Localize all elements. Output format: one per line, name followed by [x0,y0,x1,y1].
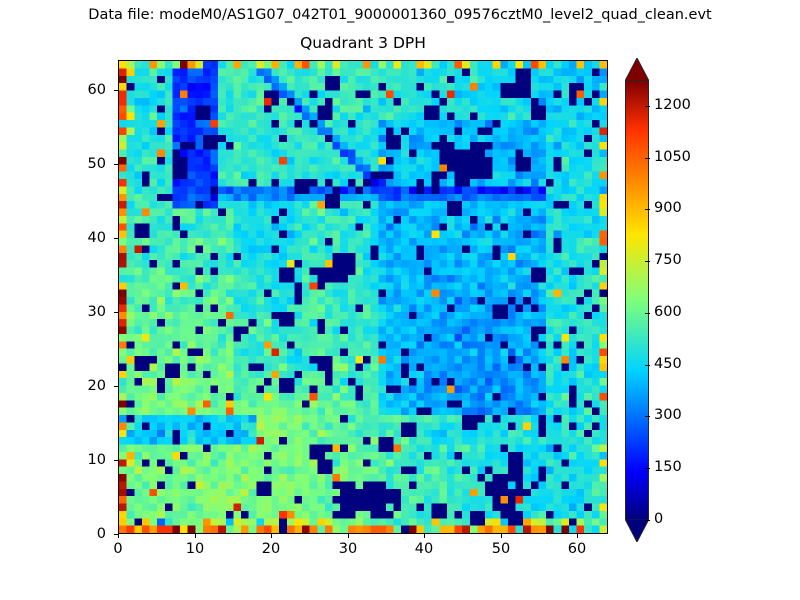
x-tick-label: 50 [471,541,531,557]
colorbar[interactable] [624,58,650,542]
colorbar-tick-mark [645,468,650,469]
colorbar-tick-mark [645,520,650,521]
y-tick-mark [114,460,118,461]
x-tick-label: 60 [547,541,607,557]
x-tick-mark [424,534,425,538]
colorbar-gradient [626,81,648,519]
y-tick-label: 10 [46,452,106,468]
y-tick-mark [114,312,118,313]
y-tick-mark [114,386,118,387]
x-tick-label: 10 [165,541,225,557]
colorbar-tick-label: 150 [654,459,682,475]
colorbar-tick-label: 1200 [654,97,691,113]
colorbar-extend-max-arrow-icon [625,58,649,81]
colorbar-tick-label: 450 [654,356,682,372]
y-tick-label: 60 [46,82,106,98]
x-tick-label: 0 [88,541,148,557]
x-tick-label: 20 [241,541,301,557]
y-tick-mark [114,534,118,535]
x-tick-label: 40 [394,541,454,557]
colorbar-tick-mark [645,416,650,417]
x-tick-mark [501,534,502,538]
plot-title: Quadrant 3 DPH [118,33,608,53]
y-tick-label: 30 [46,304,106,320]
colorbar-tick-mark [645,365,650,366]
colorbar-tick-mark [645,209,650,210]
colorbar-tick-label: 300 [654,407,682,423]
y-tick-label: 20 [46,378,106,394]
y-tick-mark [114,90,118,91]
colorbar-extend-min-arrow-icon [625,519,649,542]
colorbar-tick-mark [645,158,650,159]
colorbar-tick-mark [645,106,650,107]
colorbar-tick-mark [645,313,650,314]
heatmap-axes[interactable] [118,60,608,534]
x-tick-mark [195,534,196,538]
x-tick-mark [348,534,349,538]
y-tick-mark [114,164,118,165]
y-tick-label: 0 [46,526,106,542]
x-tick-mark [577,534,578,538]
y-tick-label: 40 [46,230,106,246]
colorbar-tick-label: 750 [654,252,682,268]
matplotlib-figure: Data file: modeM0/AS1G07_042T01_90000013… [0,0,800,600]
y-tick-mark [114,238,118,239]
x-tick-mark [118,534,119,538]
data-file-suptitle: Data file: modeM0/AS1G07_042T01_90000013… [0,5,800,25]
x-tick-mark [271,534,272,538]
y-tick-label: 50 [46,156,106,172]
colorbar-tick-mark [645,261,650,262]
colorbar-tick-label: 1050 [654,149,691,165]
dph-heatmap-image[interactable] [119,61,607,533]
colorbar-tick-label: 600 [654,304,682,320]
x-tick-label: 30 [318,541,378,557]
colorbar-body[interactable] [625,80,649,520]
colorbar-tick-label: 900 [654,200,682,216]
colorbar-tick-label: 0 [654,511,663,527]
